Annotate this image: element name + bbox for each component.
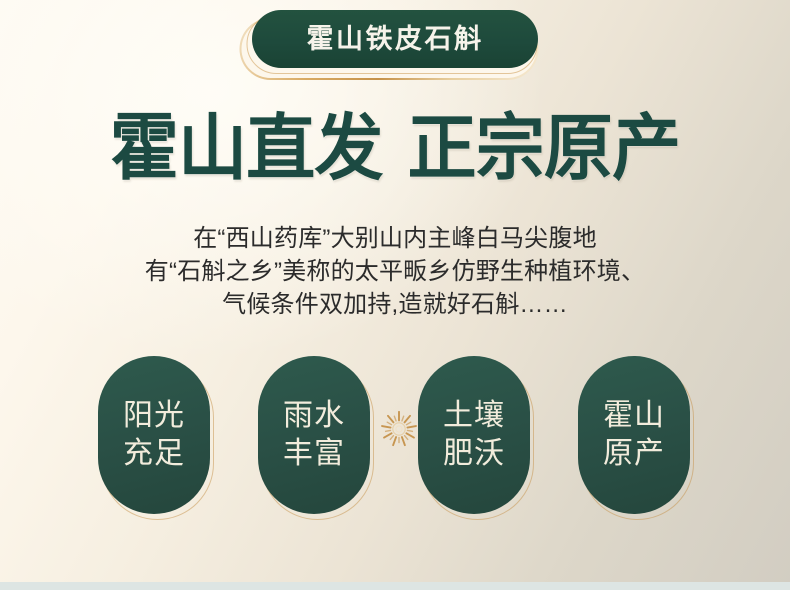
bottom-accent-strip: [0, 582, 790, 590]
pill-label-line-2: 肥沃: [443, 435, 505, 473]
description-line-1: 在“西山药库”大别山内主峰白马尖腹地: [0, 222, 790, 255]
pill-label-line-1: 阳光: [123, 397, 185, 435]
description-line-2: 有“石斛之乡”美称的太平畈乡仿野生种植环境、: [0, 255, 790, 288]
pill-label-line-1: 土壤: [443, 397, 505, 435]
feature-pill-origin[interactable]: 霍山 原产: [578, 356, 696, 524]
header-badge-area: 霍山铁皮石斛: [0, 8, 790, 80]
promo-banner: 霍山铁皮石斛 霍山直发正宗原产 在“西山药库”大别山内主峰白马尖腹地 有“石斛之…: [0, 0, 790, 590]
pill-label-line-2: 原产: [603, 435, 665, 473]
pill-body: 阳光 充足: [98, 356, 210, 514]
pill-body: 雨水 丰富: [258, 356, 370, 514]
pill-body: 土壤 肥沃: [418, 356, 530, 514]
pill-body: 霍山 原产: [578, 356, 690, 514]
pill-label-line-2: 充足: [123, 435, 185, 473]
header-badge-label: 霍山铁皮石斛: [307, 26, 484, 53]
pill-label-line-1: 雨水: [283, 397, 345, 435]
headline-part-1: 霍山直发: [110, 109, 383, 189]
description-line-3: 气候条件双加持,造就好石斛……: [0, 288, 790, 321]
headline-part-2: 正宗原产: [407, 109, 680, 189]
feature-pill-rainfall[interactable]: 雨水 丰富: [258, 356, 376, 524]
sunburst-icon: [380, 410, 418, 448]
header-badge: 霍山铁皮石斛: [252, 10, 538, 68]
pill-label-line-1: 霍山: [603, 397, 665, 435]
pill-label-line-2: 丰富: [283, 435, 345, 473]
feature-pill-sunlight[interactable]: 阳光 充足: [98, 356, 216, 524]
description-paragraph: 在“西山药库”大别山内主峰白马尖腹地 有“石斛之乡”美称的太平畈乡仿野生种植环境…: [0, 222, 790, 321]
page-title: 霍山直发正宗原产: [16, 112, 774, 187]
feature-pill-soil[interactable]: 土壤 肥沃: [418, 356, 536, 524]
